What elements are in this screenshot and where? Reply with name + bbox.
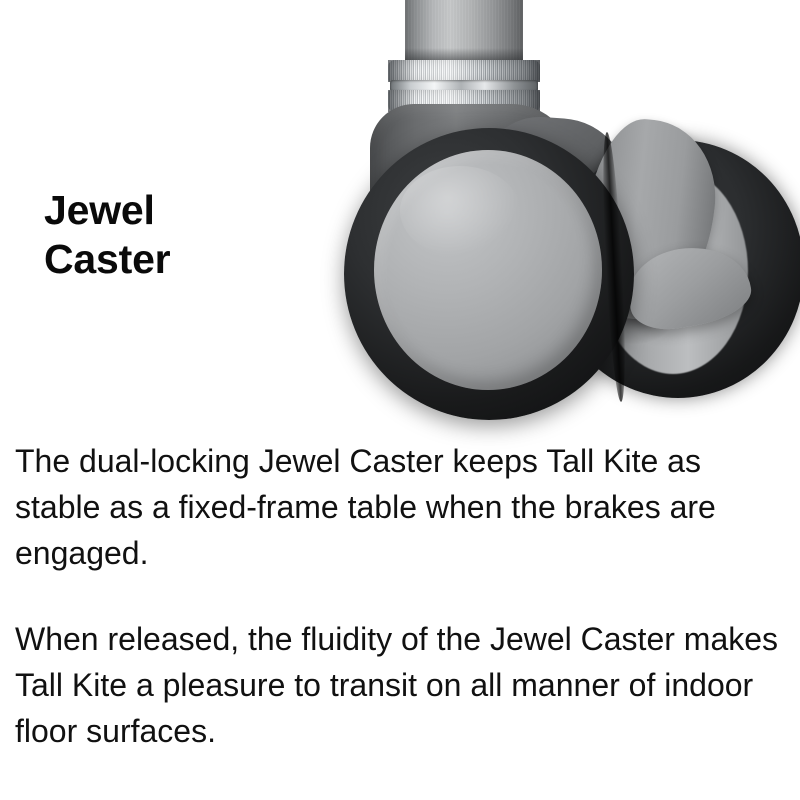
paragraph-brakes-engaged: The dual-locking Jewel Caster keeps Tall… — [15, 438, 790, 576]
product-feature-page: Jewel Caster The dual-locking Jewel Cast… — [0, 0, 800, 800]
knurl-band-top — [388, 60, 540, 82]
jewel-caster-photo — [330, 0, 730, 430]
body-copy: The dual-locking Jewel Caster keeps Tall… — [15, 438, 790, 754]
knurl-top-shading — [388, 60, 540, 82]
page-title: Jewel Caster — [44, 186, 314, 284]
paragraph-brakes-released: When released, the fluidity of the Jewel… — [15, 616, 790, 754]
hub-cap-highlight — [400, 166, 520, 256]
